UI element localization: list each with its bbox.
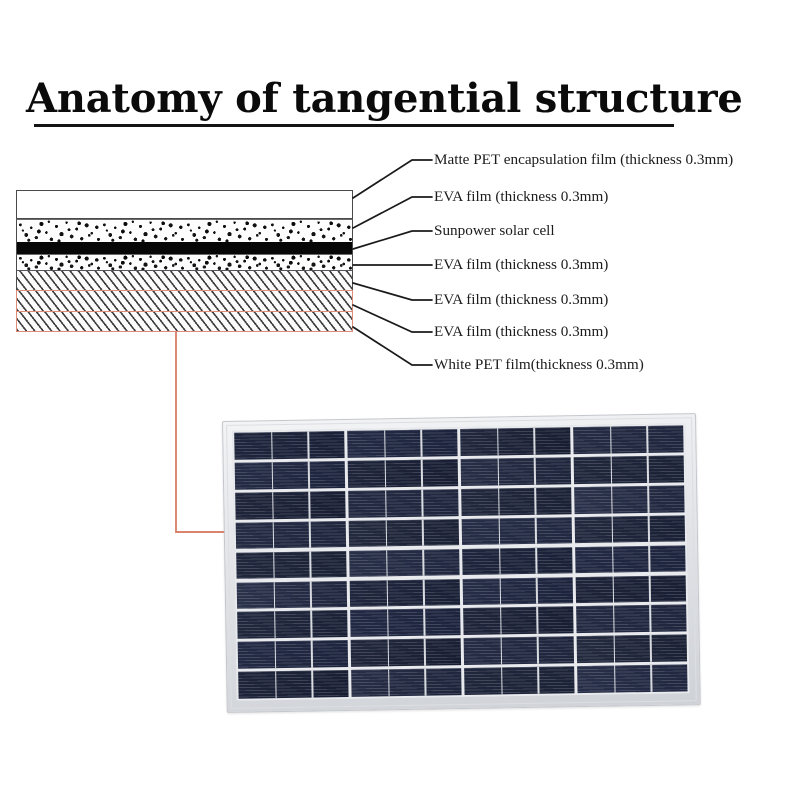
- panel-cell: [348, 459, 458, 488]
- cell-shading: [573, 425, 683, 454]
- cell-shading: [235, 461, 345, 490]
- label-matte-pet: Matte PET encapsulation film (thickness …: [434, 152, 733, 168]
- leader-line-white-pet: [353, 327, 432, 365]
- panel-cell: [575, 515, 685, 544]
- panel-cell-grid: [232, 423, 689, 700]
- cell-shading: [236, 551, 346, 580]
- panel-cell: [237, 610, 347, 639]
- leader-line-eva-mid: [353, 283, 432, 300]
- cell-shading: [575, 545, 685, 574]
- cell-shading: [347, 429, 457, 458]
- cell-shading: [462, 547, 572, 576]
- title-underline: [34, 124, 674, 127]
- panel-cell: [236, 521, 346, 550]
- panel-cell: [462, 517, 572, 546]
- cell-shading: [348, 489, 458, 518]
- laminate-cross-section: [16, 190, 353, 332]
- cell-shading: [464, 637, 574, 666]
- cell-shading: [461, 487, 571, 516]
- panel-cell: [349, 519, 459, 548]
- cell-shading: [576, 575, 686, 604]
- label-eva-under-cell: EVA film (thickness 0.3mm): [434, 257, 608, 273]
- leader-line-eva-lower: [353, 305, 432, 332]
- cell-shading: [235, 491, 345, 520]
- cell-shading: [463, 577, 573, 606]
- cell-shading: [349, 519, 459, 548]
- diagram-canvas: Anatomy of tangential structure Matte PE…: [0, 0, 800, 800]
- panel-cell: [350, 579, 460, 608]
- panel-cell: [351, 638, 461, 667]
- panel-cell: [236, 551, 346, 580]
- cell-shading: [464, 666, 574, 695]
- label-white-pet: White PET film(thickness 0.3mm): [434, 357, 644, 373]
- cell-shading: [237, 610, 347, 639]
- layer-eva-lower: [16, 290, 353, 311]
- panel-cell: [574, 485, 684, 514]
- cell-shading: [576, 605, 686, 634]
- panel-cell: [577, 635, 687, 664]
- layer-eva-top: [16, 219, 353, 242]
- panel-cell: [237, 581, 347, 610]
- panel-cell: [576, 605, 686, 634]
- cell-shading: [234, 431, 344, 460]
- panel-cell: [463, 577, 573, 606]
- layer-eva-mid: [16, 270, 353, 290]
- panel-cell: [463, 607, 573, 636]
- panel-cell: [235, 491, 345, 520]
- panel-cell: [460, 427, 570, 456]
- panel-cell: [234, 431, 344, 460]
- cell-shading: [351, 668, 461, 697]
- panel-cell: [349, 549, 459, 578]
- cell-shading: [350, 609, 460, 638]
- layer-eva-under-cell: [16, 254, 353, 270]
- cell-shading: [351, 638, 461, 667]
- panel-cell: [235, 461, 345, 490]
- solar-panel: [222, 413, 705, 721]
- cell-shading: [577, 635, 687, 664]
- leader-line-sunpower-cell: [353, 231, 432, 249]
- panel-cell: [464, 637, 574, 666]
- cell-shading: [349, 549, 459, 578]
- panel-cell: [348, 489, 458, 518]
- label-eva-mid: EVA film (thickness 0.3mm): [434, 292, 608, 308]
- panel-cell: [464, 666, 574, 695]
- label-sunpower-cell: Sunpower solar cell: [434, 223, 555, 239]
- cell-shading: [237, 581, 347, 610]
- cell-shading: [574, 485, 684, 514]
- page-title: Anatomy of tangential structure: [26, 76, 676, 132]
- panel-cell: [574, 455, 684, 484]
- panel-aluminium-frame: [222, 413, 701, 713]
- panel-cell: [573, 425, 683, 454]
- label-eva-top: EVA film (thickness 0.3mm): [434, 189, 608, 205]
- cell-shading: [575, 515, 685, 544]
- layer-sunpower-cell: [16, 242, 353, 254]
- panel-cell: [577, 665, 687, 694]
- layer-matte-pet: [16, 190, 353, 219]
- cell-shading: [461, 457, 571, 486]
- cell-shading: [238, 670, 348, 699]
- panel-cell: [575, 545, 685, 574]
- panel-laminate: [232, 423, 689, 700]
- cell-shading: [463, 607, 573, 636]
- panel-cell: [347, 429, 457, 458]
- panel-cell: [351, 668, 461, 697]
- leader-line-matte-pet: [353, 160, 432, 198]
- cell-shading: [574, 455, 684, 484]
- cell-shading: [236, 521, 346, 550]
- cell-shading: [348, 459, 458, 488]
- cell-shading: [460, 427, 570, 456]
- panel-cell: [462, 547, 572, 576]
- leader-line-eva-top: [353, 197, 432, 228]
- cell-shading: [350, 579, 460, 608]
- panel-cell: [576, 575, 686, 604]
- page-title-text: Anatomy of tangential structure: [26, 76, 676, 122]
- cell-shading: [238, 640, 348, 669]
- panel-cell: [350, 609, 460, 638]
- panel-cell: [238, 640, 348, 669]
- cell-shading: [462, 517, 572, 546]
- panel-cell: [238, 670, 348, 699]
- label-eva-lower: EVA film (thickness 0.3mm): [434, 324, 608, 340]
- panel-cell: [461, 457, 571, 486]
- layer-white-pet: [16, 311, 353, 332]
- panel-cell: [461, 487, 571, 516]
- cell-shading: [577, 665, 687, 694]
